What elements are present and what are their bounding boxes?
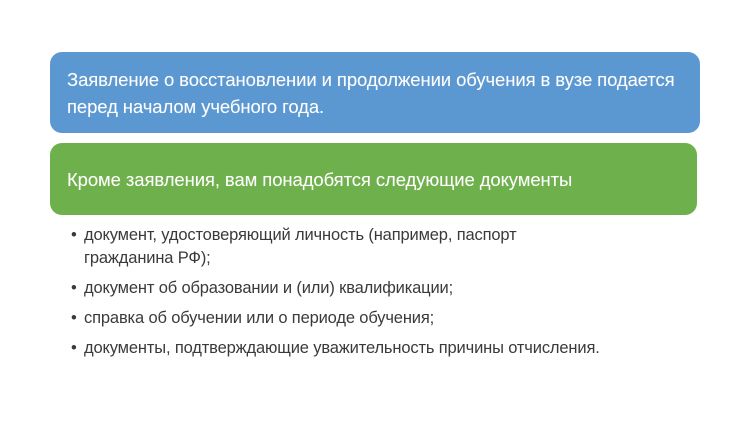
callout-blue-text: Заявление о восстановлении и продолжении… (67, 66, 684, 120)
callout-blue: Заявление о восстановлении и продолжении… (50, 52, 700, 133)
bullet-dot-icon: • (71, 307, 77, 330)
bullet-dot-icon: • (71, 337, 77, 360)
list-item: • документы, подтверждающие уважительнос… (70, 337, 710, 360)
list-item-label: справка об обучении или о периоде обучен… (84, 307, 710, 330)
list-item: • документ, удостоверяющий личность (нап… (70, 224, 710, 270)
list-item: • документ об образовании и (или) квалиф… (70, 277, 710, 300)
document-requirements-list: • документ, удостоверяющий личность (нап… (70, 224, 710, 360)
bullet-dot-icon: • (71, 277, 77, 300)
bullet-dot-icon: • (71, 224, 77, 247)
list-item-label: документ об образовании и (или) квалифик… (84, 277, 710, 300)
list-item-label: документы, подтверждающие уважительность… (84, 337, 710, 360)
list-item: • справка об обучении или о периоде обуч… (70, 307, 710, 330)
slide-canvas: Заявление о восстановлении и продолжении… (0, 0, 750, 421)
callout-green-text: Кроме заявления, вам понадобятся следующ… (67, 166, 681, 193)
callout-green: Кроме заявления, вам понадобятся следующ… (50, 143, 697, 215)
list-item-label: документ, удостоверяющий личность (напри… (84, 224, 604, 270)
